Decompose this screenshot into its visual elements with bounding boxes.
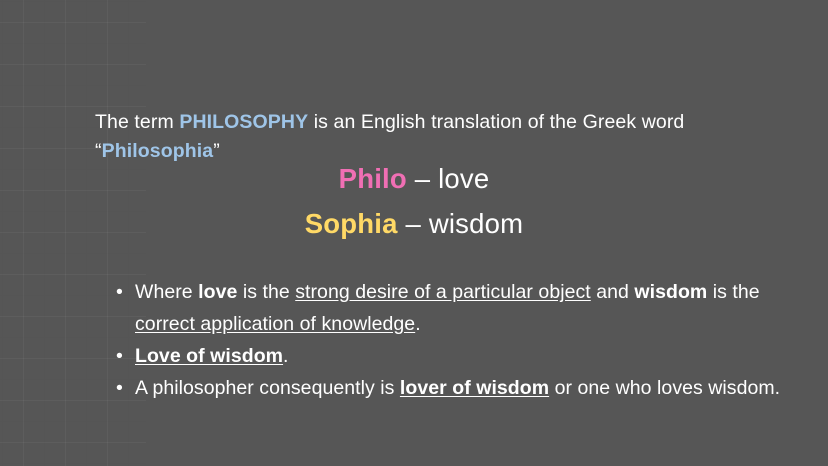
intro-text-part2: is an English translation of the Greek w… — [308, 111, 684, 133]
bullet-marker-icon: • — [116, 276, 123, 308]
text-run-normal: or one who loves wisdom. — [549, 377, 780, 399]
term-philo: Philo — [339, 163, 407, 194]
text-run-bold: love — [198, 281, 237, 303]
meaning-sophia: wisdom — [429, 208, 523, 239]
text-run-bold-underline: Love of wisdom — [135, 345, 283, 367]
text-run-normal: . — [283, 345, 288, 367]
keyword-philosophy: PHILOSOPHY — [179, 111, 308, 133]
text-run-normal: . — [415, 313, 420, 335]
meaning-philo: love — [438, 163, 489, 194]
bullet-marker-icon: • — [116, 372, 123, 404]
text-run-bold-underline: lover of wisdom — [400, 377, 549, 399]
term-sophia: Sophia — [305, 208, 398, 239]
bullet-list: • Where love is the strong desire of a p… — [112, 276, 802, 404]
definition-line-philo: Philo – love — [0, 156, 828, 201]
text-run-normal: A philosopher consequently is — [135, 377, 400, 399]
intro-text-part1: The term — [95, 111, 179, 133]
text-run-underline: strong desire of a particular object — [295, 281, 591, 303]
text-run-normal: and — [591, 281, 635, 303]
list-item-text: Love of wisdom. — [135, 345, 289, 367]
text-run-underline: correct application of knowledge — [135, 313, 415, 335]
text-run-normal: Where — [135, 281, 198, 303]
slide-canvas: The term PHILOSOPHY is an English transl… — [0, 0, 828, 466]
list-item-text: Where love is the strong desire of a par… — [135, 281, 760, 335]
separator-dash-philo: – — [407, 163, 438, 194]
definition-line-sophia: Sophia – wisdom — [0, 201, 828, 246]
separator-dash-sophia: – — [398, 208, 429, 239]
list-item: • Love of wisdom. — [112, 340, 802, 372]
list-item-text: A philosopher consequently is lover of w… — [135, 377, 780, 399]
definition-lines: Philo – love Sophia – wisdom — [0, 156, 828, 246]
bullet-marker-icon: • — [116, 340, 123, 372]
text-run-normal: is the — [707, 281, 759, 303]
list-item: • Where love is the strong desire of a p… — [112, 276, 802, 340]
text-run-normal: is the — [237, 281, 295, 303]
list-item: • A philosopher consequently is lover of… — [112, 372, 802, 404]
text-run-bold: wisdom — [634, 281, 707, 303]
